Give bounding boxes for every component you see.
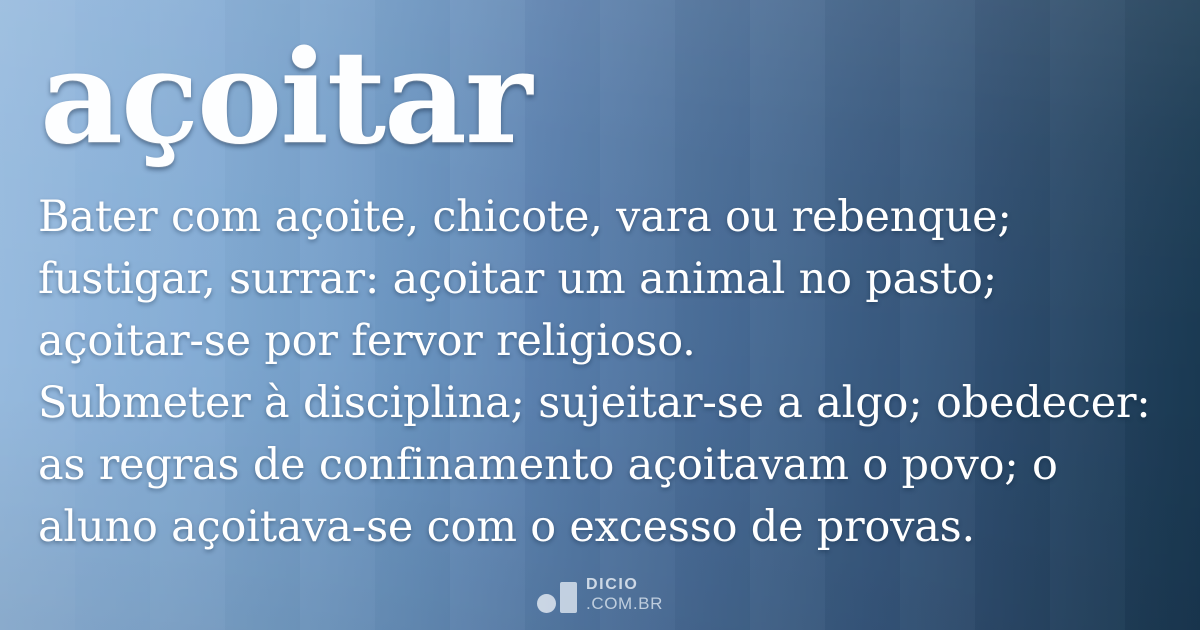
definition-line: as regras de confinamento açoitavam o po…	[38, 434, 1170, 496]
page-title: açoitar	[40, 34, 530, 162]
definition-line: aluno açoitava-se com o excesso de prova…	[38, 496, 1170, 558]
logo-bar-icon	[560, 582, 577, 613]
logo-domain: .COM.BR	[586, 595, 663, 612]
dicio-logo: DICIO .COM.BR	[0, 577, 1200, 613]
definition-line: Bater com açoite, chicote, vara ou reben…	[38, 186, 1170, 248]
dicio-definition-card: açoitar Bater com açoite, chicote, vara …	[0, 0, 1200, 630]
logo-brand-name: DICIO	[586, 577, 663, 593]
logo-circle-icon	[537, 594, 556, 613]
logo-wordmark: DICIO .COM.BR	[586, 577, 663, 613]
definition-line: fustigar, surrar: açoitar um animal no p…	[38, 248, 1170, 310]
dicio-logo-mark-icon	[537, 582, 577, 613]
definition-text: Bater com açoite, chicote, vara ou reben…	[38, 186, 1170, 558]
definition-line: Submeter à disciplina; sujeitar-se a alg…	[38, 372, 1170, 434]
definition-line: açoitar-se por fervor religioso.	[38, 310, 1170, 372]
card-content: açoitar Bater com açoite, chicote, vara …	[0, 0, 1200, 630]
